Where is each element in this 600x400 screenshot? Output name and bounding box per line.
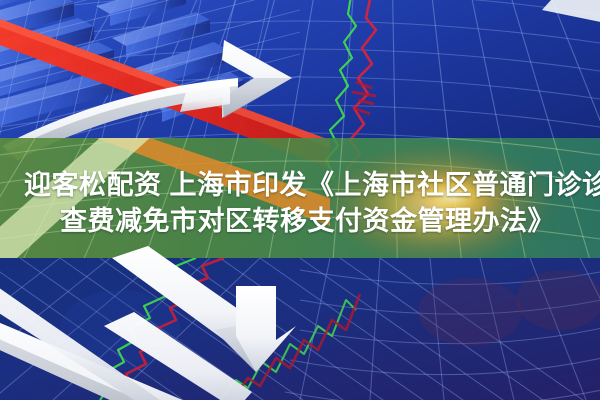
hero-banner: 迎客松配资 上海市印发《上海市社区普通门诊诊 查费减免市对区转移支付资金管理办法… bbox=[0, 0, 600, 400]
background-artwork bbox=[0, 0, 600, 400]
warm-glow-core bbox=[396, 166, 508, 226]
